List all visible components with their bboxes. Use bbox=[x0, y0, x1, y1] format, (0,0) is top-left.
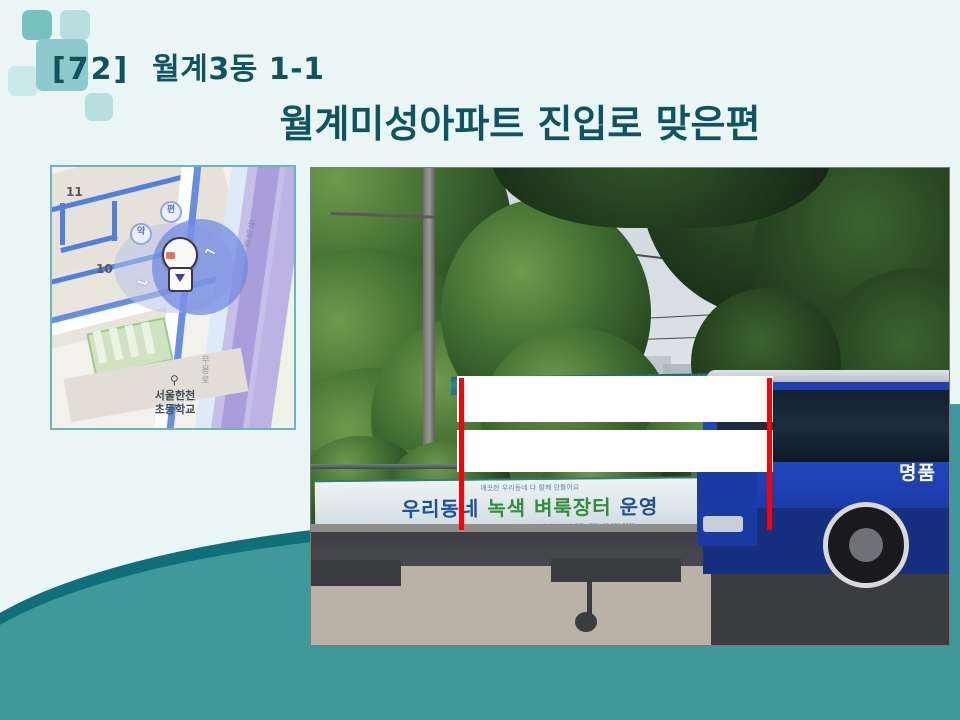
photo-measure-line-left bbox=[459, 378, 464, 530]
page-subtitle: 월계미성아파트 진입로 맞은편 bbox=[0, 93, 960, 148]
map-position-pointer[interactable] bbox=[168, 267, 193, 292]
map-school-icon: ⚲ bbox=[170, 373, 179, 387]
photo-bus-front-nose bbox=[697, 468, 757, 546]
slide-root: [72] 월계3동 1-1 월계미성아파트 진입로 맞은편 bbox=[0, 0, 960, 720]
page-title-line1: [72] 월계3동 1-1 bbox=[52, 44, 324, 88]
map-position-arrow-icon bbox=[175, 274, 185, 282]
photo-banner-maintext: 우리동네 녹색 벼룩장터 운영 bbox=[315, 490, 745, 524]
photo-banner-text-post: 운영 bbox=[611, 495, 658, 519]
map-canvas: 편 약 ⌐ ⌐ 11 10 동일로 무용로 ⚲ 서울한천 초등학교 bbox=[52, 167, 294, 428]
photo-redaction-box-upper bbox=[457, 376, 773, 422]
photo-banner-text-green: 녹색 벼룩장터 bbox=[487, 495, 612, 520]
map-building-label-10: 10 bbox=[96, 262, 113, 276]
photo-road-shadow-lamp bbox=[575, 612, 597, 632]
photo-canvas: 녹색장터 운영 안내 - 월계3동 주민자치위원회 알림 2009년 9월 깨끗… bbox=[311, 168, 949, 645]
photo-road-shadow-2 bbox=[551, 558, 681, 582]
map-panel[interactable]: 편 약 ⌐ ⌐ 11 10 동일로 무용로 ⚲ 서울한천 초등학교 bbox=[50, 165, 296, 430]
map-inner-road-4 bbox=[112, 201, 117, 241]
photo-measure-line-right bbox=[767, 378, 772, 530]
photo-road-shadow-1 bbox=[311, 560, 401, 586]
map-inner-road-2 bbox=[60, 203, 65, 245]
map-poi-marker-2[interactable]: 약 bbox=[130, 223, 152, 245]
photo-redaction-box-lower bbox=[457, 430, 773, 472]
map-poi-marker-1[interactable]: 편 bbox=[160, 201, 182, 223]
map-street-name-label: 무용로 bbox=[198, 355, 211, 385]
decor-square-left bbox=[8, 66, 38, 96]
decor-square-top-left bbox=[22, 10, 52, 40]
decor-square-top-right bbox=[60, 10, 90, 40]
map-school-name-line2: 초등학교 bbox=[52, 403, 294, 416]
slide-index-label: [72] bbox=[52, 52, 129, 87]
photo-banner-text-pre: 우리동네 bbox=[402, 496, 488, 521]
photo-road-shadow-3 bbox=[711, 566, 949, 645]
photo-bus-wheel-hub bbox=[849, 528, 883, 562]
photo-bus-side-text: 명품 bbox=[899, 458, 936, 485]
photo-panel[interactable]: 녹색장터 운영 안내 - 월계3동 주민자치위원회 알림 2009년 9월 깨끗… bbox=[310, 167, 950, 646]
map-position-heading-dot bbox=[166, 252, 175, 259]
photo-bus-headlight bbox=[703, 516, 743, 532]
map-school-name-line1: 서울한천 bbox=[52, 389, 294, 402]
location-label: 월계3동 1-1 bbox=[152, 52, 324, 87]
map-building-label-11: 11 bbox=[66, 185, 83, 199]
